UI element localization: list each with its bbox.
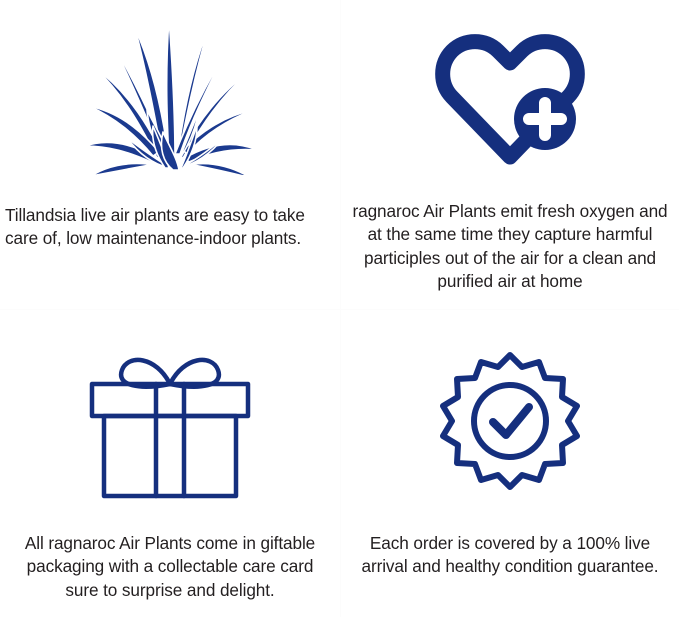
feature-panel-care: Tillandsia live air plants are easy to t… [0,0,340,309]
gift-box-icon [0,310,340,500]
feature-panel-oxygen: ragnaroc Air Plants emit fresh oxygen an… [340,0,679,309]
air-plant-icon [0,0,340,180]
feature-grid: Tillandsia live air plants are easy to t… [0,0,679,617]
feature-caption: All ragnaroc Air Plants come in giftable… [0,532,340,602]
feature-caption: ragnaroc Air Plants emit fresh oxygen an… [341,200,679,294]
guarantee-badge-icon [341,310,679,500]
feature-panel-guarantee: Each order is covered by a 100% live arr… [340,309,679,617]
heart-plus-icon [341,0,679,180]
feature-caption: Each order is covered by a 100% live arr… [341,532,679,579]
feature-panel-giftable: All ragnaroc Air Plants come in giftable… [0,309,340,617]
feature-caption: Tillandsia live air plants are easy to t… [0,204,340,251]
